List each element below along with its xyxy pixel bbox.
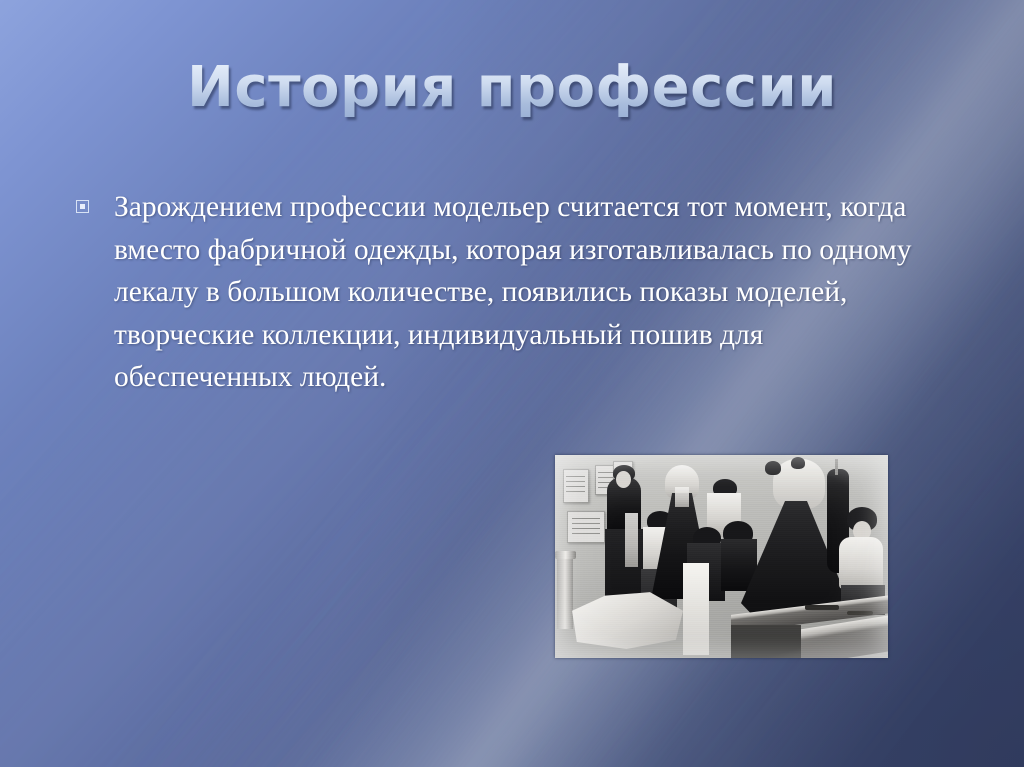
square-box-bullet-icon [76, 200, 89, 213]
slide-body: Зарождением профессии модельер считается… [76, 186, 932, 399]
presentation-slide: История профессии Зарождением профессии … [0, 0, 1024, 767]
photo-white-vignette [555, 455, 888, 658]
bullet-text: Зарождением профессии модельер считается… [114, 186, 932, 399]
slide-title: История профессии [0, 58, 1024, 117]
workshop-photo-content [555, 455, 888, 658]
workshop-photo [555, 455, 888, 658]
